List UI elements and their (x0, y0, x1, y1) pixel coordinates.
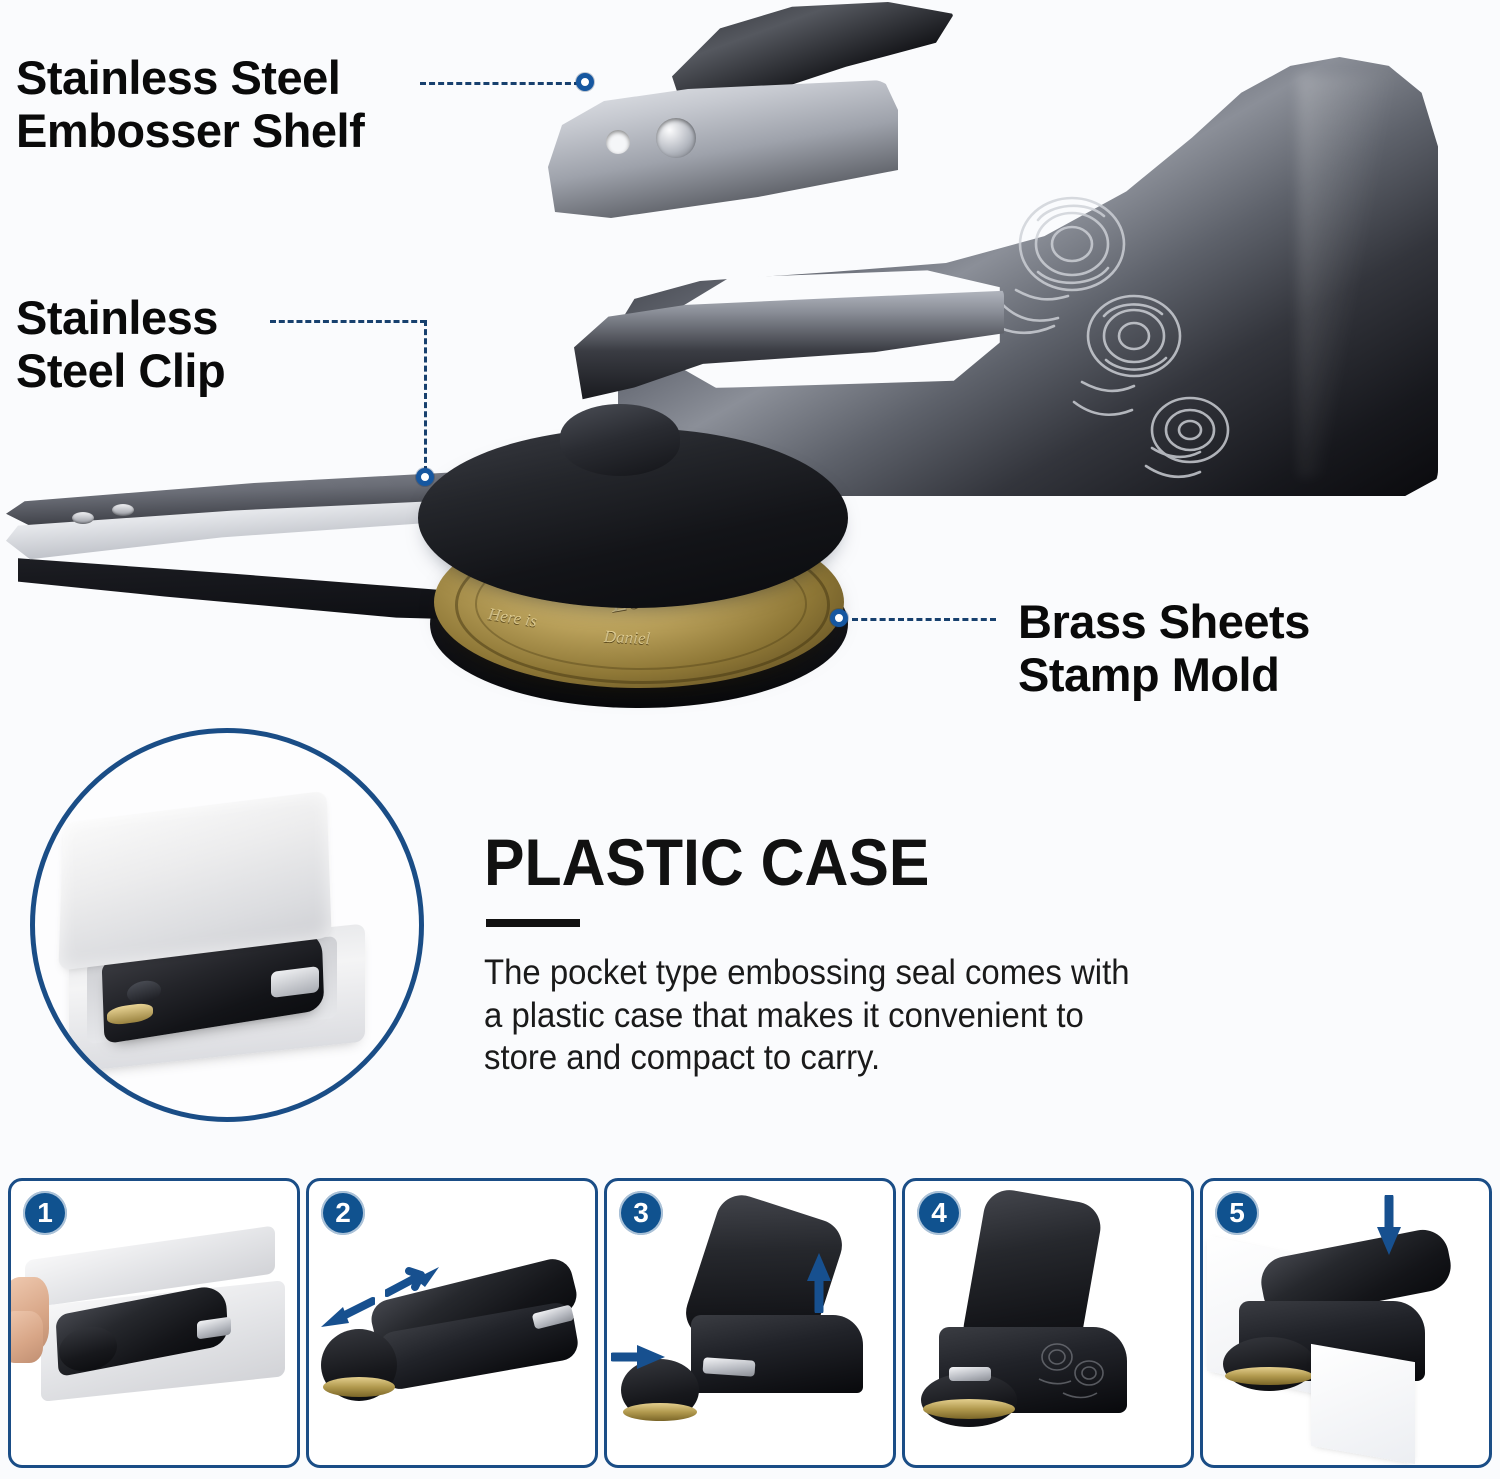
step4-brass (923, 1399, 1015, 1419)
engraving-bottom-left: Here is (487, 604, 538, 631)
callout-label-clip: Stainless Steel Clip (16, 292, 225, 397)
arrow-right-icon (611, 1343, 667, 1371)
connector-dot-shelf (576, 73, 594, 91)
step2-brass (323, 1377, 395, 1397)
heading-divider (486, 919, 580, 927)
step-panel-4[interactable]: 4 (902, 1178, 1194, 1468)
callout-label-brass: Brass Sheets Stamp Mold (1018, 596, 1310, 701)
step-badge-2: 2 (321, 1191, 365, 1235)
clip-screw-b (112, 504, 134, 516)
step5-brass (1225, 1367, 1313, 1385)
arrow-down-icon (1375, 1195, 1403, 1257)
connector-dot-brass (830, 609, 848, 627)
clip-and-stamp-assembly: LIBRARY OF Leslie Dion Here is Daniel (0, 408, 880, 708)
step-panel-2[interactable]: 2 (306, 1178, 598, 1468)
instruction-steps: 1 2 (8, 1178, 1492, 1468)
step-badge-3: 3 (619, 1191, 663, 1235)
step3-base (691, 1315, 863, 1393)
arrow-down-left-icon (319, 1297, 375, 1331)
plastic-case-description: The pocket type embossing seal comes wit… (484, 952, 1236, 1080)
step-panel-1[interactable]: 1 (8, 1178, 300, 1468)
disc-knob (560, 404, 680, 476)
arrow-up-icon (805, 1251, 833, 1313)
plastic-case-photo (30, 728, 424, 1122)
step5-paper-front (1311, 1344, 1415, 1464)
stainless-steel-shelf (548, 80, 898, 230)
arrow-up-right-icon (385, 1265, 441, 1299)
step3-brass (623, 1403, 697, 1421)
connector-line-brass (852, 618, 996, 621)
engraving-bottom-right: Daniel (604, 627, 651, 649)
callout-label-shelf: Stainless Steel Embosser Shelf (16, 52, 364, 157)
plastic-case-heading: PLASTIC CASE (484, 824, 929, 900)
step-badge-1: 1 (23, 1191, 67, 1235)
clip-screw-a (72, 512, 94, 524)
connector-dot-clip (416, 468, 434, 486)
rose-engraving (976, 186, 1256, 486)
step-badge-4: 4 (917, 1191, 961, 1235)
stamp-disc: LIBRARY OF Leslie Dion Here is Daniel (410, 408, 860, 688)
step1-fingers (8, 1311, 43, 1363)
shelf-hole-large (656, 118, 696, 158)
step-panel-3[interactable]: 3 (604, 1178, 896, 1468)
step4-rose-engraving (1033, 1339, 1117, 1403)
connector-line-clip-h (270, 320, 426, 323)
step-panel-5[interactable]: 5 (1200, 1178, 1492, 1468)
connector-line-clip-v (424, 320, 427, 472)
connector-line-shelf (420, 82, 580, 85)
infographic-canvas: LIBRARY OF Leslie Dion Here is Daniel St… (0, 0, 1500, 1479)
shelf-hole-small (606, 130, 630, 154)
step4-clip (949, 1367, 991, 1381)
step-badge-5: 5 (1215, 1191, 1259, 1235)
